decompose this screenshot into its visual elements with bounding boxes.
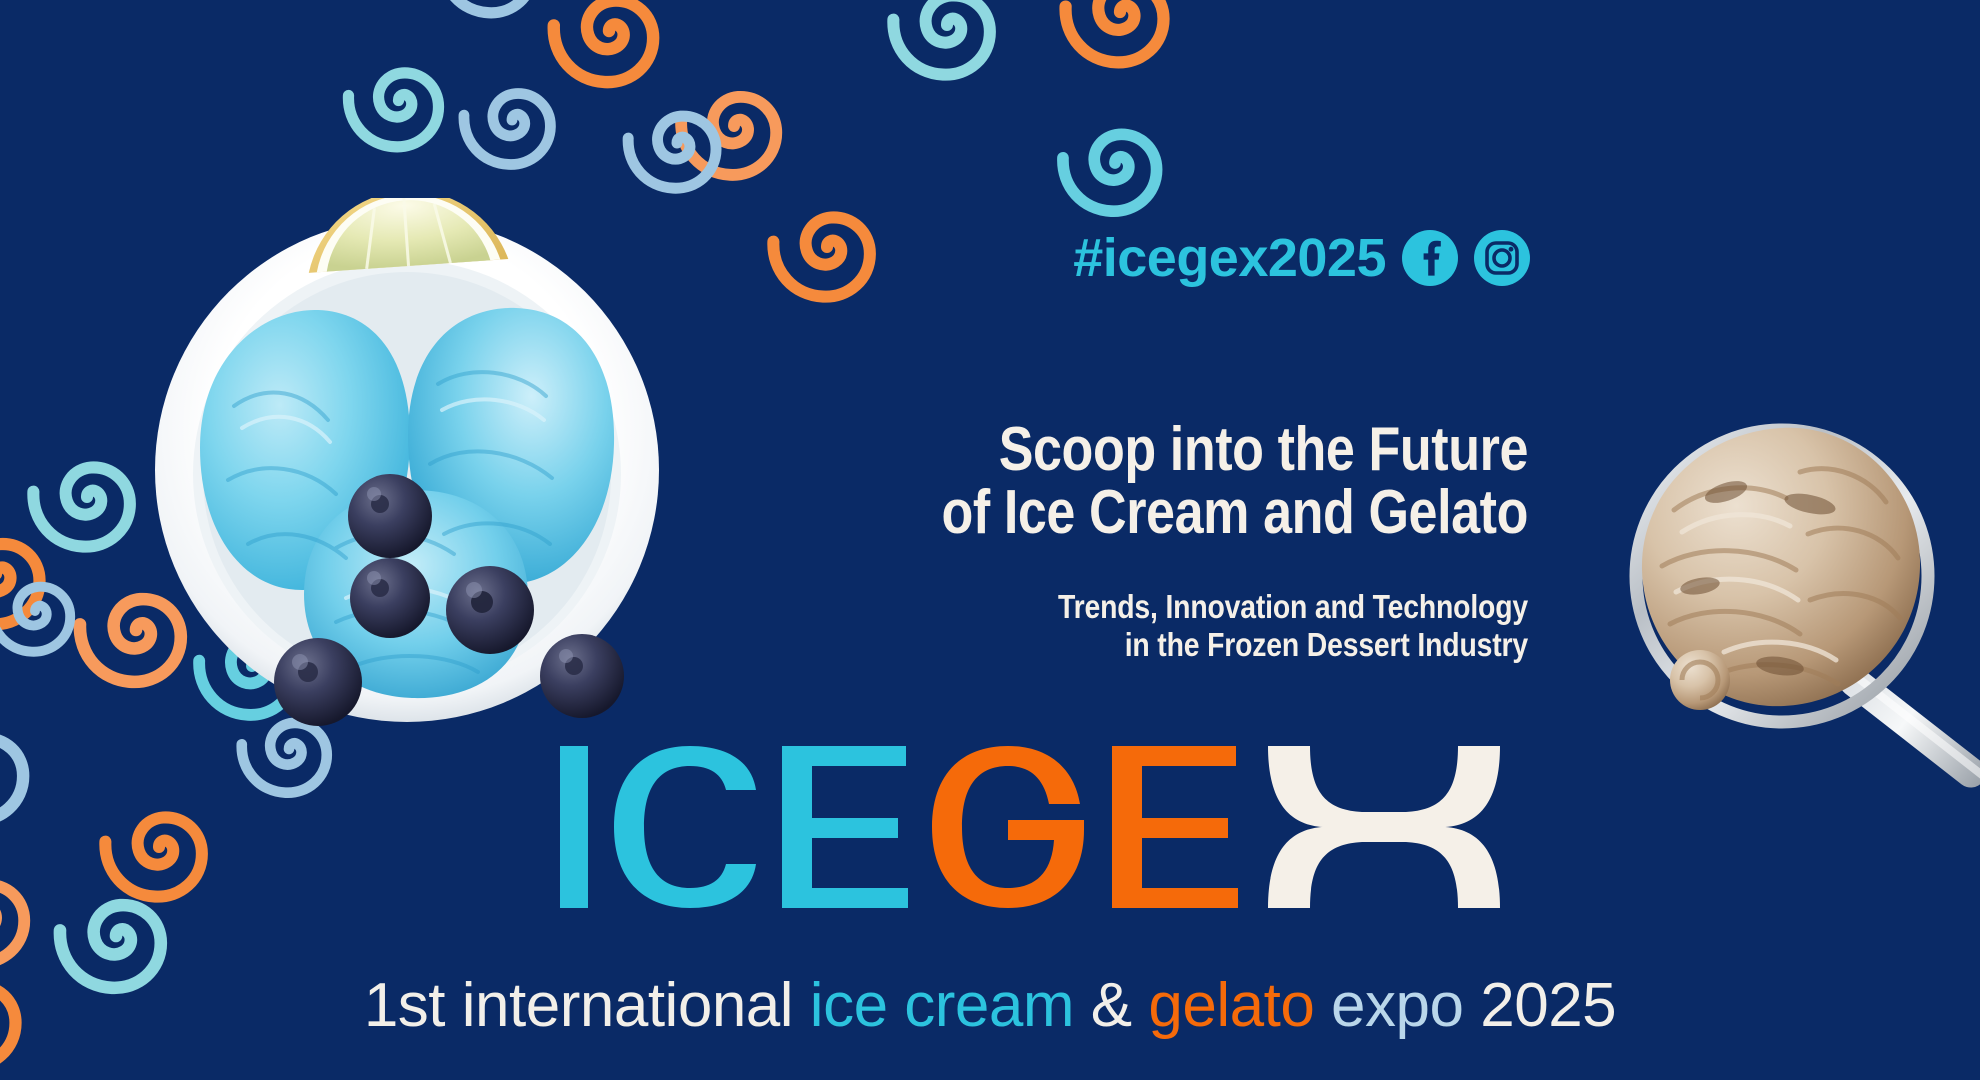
instagram-icon[interactable] [1474,230,1530,286]
tagline-space-3 [1132,971,1149,1040]
subtitle: Trends, Innovation and Technology in the… [926,588,1528,664]
scoop-illustration [1604,380,1980,800]
ice-cream-scoop-photo [1604,380,1980,800]
logo-letter-e2 [1112,746,1238,908]
tagline-space-2 [1074,971,1091,1040]
tagline-space-4 [1314,971,1331,1040]
tagline-part-1st-international: 1st international [364,971,793,1040]
subtitle-line-2: in the Frozen Dessert Industry [926,626,1528,664]
headline-line-1: Scoop into the Future [940,418,1528,481]
logo-letter-g [932,746,1084,908]
tagline-part-ice-cream: ice cream [810,971,1074,1040]
tagline-part-year: 2025 [1480,971,1616,1040]
banner-canvas: #icegex2025 Scoop into the Future of Ice… [0,0,1980,1080]
subtitle-line-1: Trends, Innovation and Technology [926,588,1528,626]
tagline-part-expo: expo [1331,971,1463,1040]
tagline: 1st international ice cream & gelato exp… [0,975,1980,1037]
hashtag-text: #icegex2025 [1073,231,1386,285]
tagline-part-gelato: gelato [1148,971,1314,1040]
icegex-logo [556,742,1546,912]
logo-letter-e [782,746,908,908]
social-row: #icegex2025 [1073,230,1530,286]
facebook-icon[interactable] [1402,230,1458,286]
tagline-part-ampersand: & [1091,971,1132,1040]
headline: Scoop into the Future of Ice Cream and G… [940,418,1528,544]
icegex-wordmark-svg [556,742,1546,912]
headline-line-2: of Ice Cream and Gelato [940,481,1528,544]
logo-letter-i [560,746,588,908]
tagline-space-5 [1464,971,1481,1040]
logo-letter-x [1268,746,1500,908]
logo-letter-c [614,746,756,908]
tagline-space-1 [793,971,810,1040]
bowl-illustration [122,198,692,728]
bowl-of-ice-cream-photo [122,198,692,728]
